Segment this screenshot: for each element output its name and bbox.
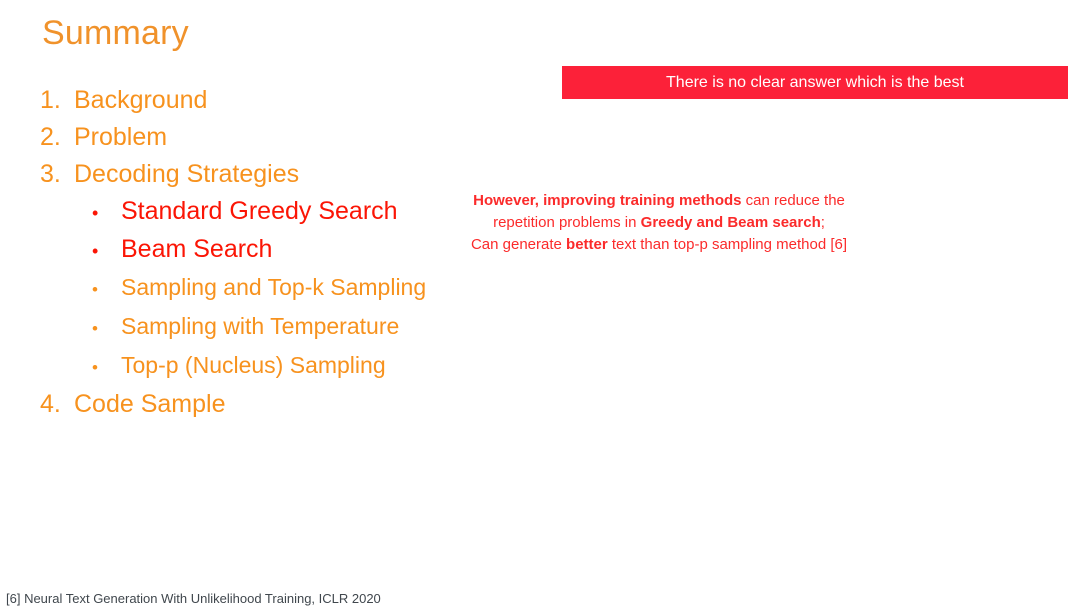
bullet-dot-icon: •	[92, 350, 121, 386]
slide-canvas: Summary 1. Background 2. Problem 3. Deco…	[0, 0, 1080, 613]
annotation-line-2-post: ;	[821, 214, 825, 231]
callout-banner-text: There is no clear answer which is the be…	[666, 73, 964, 93]
outline-label: Decoding Strategies	[74, 156, 510, 193]
sublist-item-label: Top-p (Nucleus) Sampling	[121, 347, 510, 383]
outline-label: Problem	[74, 119, 510, 156]
annotation-line-3-pre: Can generate	[471, 236, 566, 253]
outline-item-decoding-strategies: 3. Decoding Strategies	[40, 156, 510, 193]
bullet-dot-icon: •	[92, 233, 121, 269]
outline-number: 4.	[40, 386, 74, 423]
annotation-line-1-rest: can reduce the	[741, 192, 844, 209]
outline-item-problem: 2. Problem	[40, 119, 510, 156]
outline-number: 3.	[40, 156, 74, 193]
annotation-note: However, improving training methods can …	[434, 190, 884, 256]
outline-label: Background	[74, 82, 510, 119]
bullet-dot-icon: •	[92, 195, 121, 231]
bullet-dot-icon: •	[92, 272, 121, 308]
annotation-line-1-bold: However, improving training methods	[473, 192, 741, 209]
annotation-line-3: Can generate better text than top-p samp…	[434, 234, 884, 256]
outline-label: Code Sample	[74, 386, 510, 423]
sublist-item-label: Sampling with Temperature	[121, 308, 510, 344]
annotation-line-2: repetition problems in Greedy and Beam s…	[434, 212, 884, 234]
sublist-item-label: Sampling and Top-k Sampling	[121, 269, 510, 305]
page-title: Summary	[42, 12, 189, 54]
annotation-line-1: However, improving training methods can …	[434, 190, 884, 212]
bullet-dot-icon: •	[92, 311, 121, 347]
sublist-item-sampling-with-temperature: • Sampling with Temperature	[40, 308, 510, 347]
sublist-item-sampling-and-top-k-sampling: • Sampling and Top-k Sampling	[40, 269, 510, 308]
outline-number: 2.	[40, 119, 74, 156]
outline-item-background: 1. Background	[40, 82, 510, 119]
annotation-line-2-pre: repetition problems in	[493, 214, 641, 231]
outline-number: 1.	[40, 82, 74, 119]
callout-banner: There is no clear answer which is the be…	[562, 66, 1068, 99]
sublist-item-top-p-nucleus-sampling: • Top-p (Nucleus) Sampling	[40, 347, 510, 386]
outline-item-code-sample: 4. Code Sample	[40, 386, 510, 423]
annotation-line-2-bold: Greedy and Beam search	[641, 214, 821, 231]
annotation-line-3-post: text than top-p sampling method [6]	[608, 236, 847, 253]
footnote-reference: [6] Neural Text Generation With Unlikeli…	[6, 590, 381, 608]
annotation-line-3-bold: better	[566, 236, 608, 253]
